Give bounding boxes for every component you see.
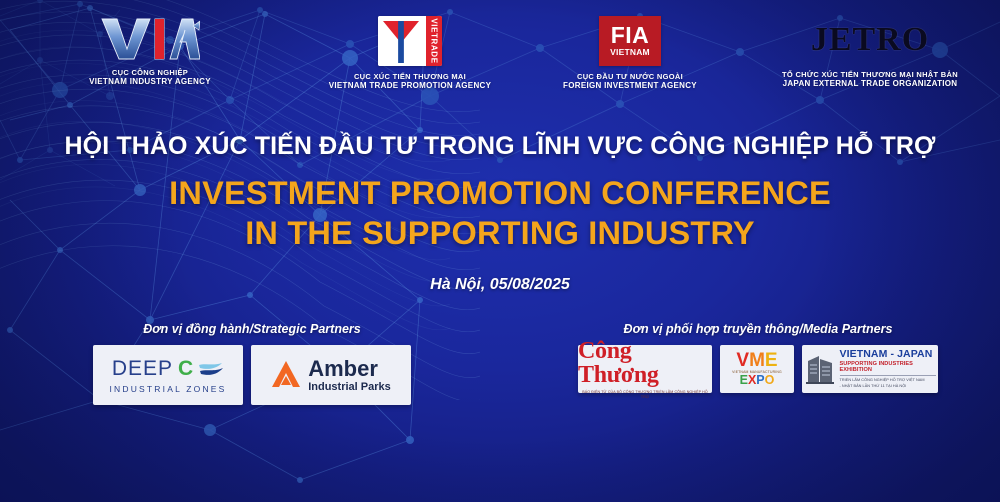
vietnam-japan-title: VIETNAM - JAPAN	[840, 349, 933, 360]
media-partners-group: Đơn vị phối hợp truyền thông/Media Partn…	[578, 322, 938, 393]
media-partners-label: Đơn vị phối hợp truyền thông/Media Partn…	[578, 322, 938, 336]
page-title-english-line2: IN THE SUPPORTING INDUSTRY	[0, 213, 1000, 253]
amber-triangle-icon	[271, 360, 301, 390]
jetro-caption-vi: TỔ CHỨC XÚC TIẾN THƯƠNG MẠI NHẬT BẢN	[782, 70, 958, 79]
vme-wordmark: V M E	[736, 352, 777, 369]
deepc-wordmark-row: DEEP C	[112, 357, 224, 381]
expo-letter-x: X	[748, 375, 756, 386]
conference-banner: CỤC CÔNG NGHIỆP VIETNAM INDUSTRY AGENCY …	[0, 0, 1000, 502]
organizer-logo-jetro: JETRO TỔ CHỨC XÚC TIẾN THƯƠNG MẠI NHẬT B…	[740, 16, 1000, 89]
deepc-subtitle: INDUSTRIAL ZONES	[109, 384, 226, 394]
amber-wordmark: Amber Industrial Parks	[308, 358, 391, 393]
vietnam-japan-wordmark: VIETNAM - JAPAN SUPPORTING INDUSTRIES EX…	[840, 349, 936, 389]
cong-thuong-subtitle: BÁO ĐIỆN TỬ CỦA BỘ CÔNG THƯƠNG TRIỂN LÃM…	[578, 390, 712, 400]
fia-caption: CỤC ĐẦU TƯ NƯỚC NGOÀI FOREIGN INVESTMENT…	[563, 72, 697, 91]
organizer-logo-via: CỤC CÔNG NGHIỆP VIETNAM INDUSTRY AGENCY	[0, 16, 300, 87]
strategic-partners-group: Đơn vị đồng hành/Strategic Partners DEEP…	[78, 322, 426, 405]
strategic-partners-label: Đơn vị đồng hành/Strategic Partners	[78, 322, 426, 336]
vietnam-japan-building-icon	[805, 352, 835, 386]
vietnam-japan-subtitle: SUPPORTING INDUSTRIES EXHIBITION	[840, 361, 936, 373]
vietrade-v-shape	[378, 16, 426, 66]
vietrade-wordmark: VIETRADE	[430, 18, 439, 63]
via-caption: CỤC CÔNG NGHIỆP VIETNAM INDUSTRY AGENCY	[89, 68, 211, 87]
partner-logo-deepc[interactable]: DEEP C INDUSTRIAL ZONES	[93, 345, 243, 405]
jetro-caption-en: JAPAN EXTERNAL TRADE ORGANIZATION	[782, 79, 958, 89]
headline-block: HỘI THẢO XÚC TIẾN ĐẦU TƯ TRONG LĨNH VỰC …	[0, 132, 1000, 294]
via-caption-en: VIETNAM INDUSTRY AGENCY	[89, 77, 211, 87]
vietnam-japan-divider	[840, 375, 936, 376]
vietrade-caption: CỤC XÚC TIẾN THƯƠNG MẠI VIETNAM TRADE PR…	[329, 72, 491, 91]
expo-letter-p: P	[756, 375, 764, 386]
jetro-logo-icon: JETRO	[811, 16, 929, 64]
organizer-logo-vietrade: VIETRADE CỤC XÚC TIẾN THƯƠNG MẠI VIETNAM…	[300, 16, 520, 91]
vme-letter-e: E	[765, 352, 778, 369]
page-title-english: INVESTMENT PROMOTION CONFERENCE IN THE S…	[0, 173, 1000, 254]
partner-logo-cong-thuong[interactable]: Công Thương BÁO ĐIỆN TỬ CỦA BỘ CÔNG THƯƠ…	[578, 345, 712, 393]
fia-logo-icon: FIA VIETNAM	[599, 16, 661, 66]
strategic-partners-row: DEEP C INDUSTRIAL ZONES	[78, 345, 426, 405]
venue-date: Hà Nội, 05/08/2025	[0, 276, 1000, 294]
fia-caption-vi: CỤC ĐẦU TƯ NƯỚC NGOÀI	[563, 72, 697, 81]
fia-caption-en: FOREIGN INVESTMENT AGENCY	[563, 81, 697, 91]
organizer-logo-row: CỤC CÔNG NGHIỆP VIETNAM INDUSTRY AGENCY …	[0, 16, 1000, 108]
jetro-wordmark: JETRO	[811, 21, 929, 59]
via-logo-icon	[100, 16, 200, 62]
partner-logo-vme-expo[interactable]: V M E VIETNAM MANUFACTURING E X P O	[720, 345, 794, 393]
expo-letter-e: E	[740, 375, 748, 386]
media-partners-row: Công Thương BÁO ĐIỆN TỬ CỦA BỘ CÔNG THƯƠ…	[578, 345, 938, 393]
via-caption-vi: CỤC CÔNG NGHIỆP	[89, 68, 211, 77]
vietrade-caption-en: VIETNAM TRADE PROMOTION AGENCY	[329, 81, 491, 91]
deepc-word-c: C	[178, 357, 193, 381]
vme-letter-v: V	[736, 352, 749, 369]
vietnam-japan-detail-line2: - NHẬT BẢN LẦN THỨ 11 TẠI HÀ NỘI	[840, 384, 907, 390]
deepc-word-deep: DEEP	[112, 357, 173, 381]
vietrade-sidebar: VIETRADE	[426, 16, 442, 66]
partner-logo-vietnam-japan[interactable]: VIETNAM - JAPAN SUPPORTING INDUSTRIES EX…	[802, 345, 938, 393]
partner-logo-amber[interactable]: Amber Industrial Parks	[251, 345, 411, 405]
vme-letter-m: M	[749, 352, 765, 369]
expo-wordmark: E X P O	[740, 375, 775, 386]
amber-subtitle: Industrial Parks	[308, 381, 391, 393]
fia-country: VIETNAM	[610, 47, 650, 57]
expo-letter-o: O	[765, 375, 775, 386]
amber-name: Amber	[308, 358, 378, 380]
organizer-logo-fia: FIA VIETNAM CỤC ĐẦU TƯ NƯỚC NGOÀI FOREIG…	[520, 16, 740, 91]
fia-wordmark: FIA	[611, 25, 650, 47]
vietrade-logo-icon: VIETRADE	[378, 16, 442, 66]
jetro-caption: TỔ CHỨC XÚC TIẾN THƯƠNG MẠI NHẬT BẢN JAP…	[782, 70, 958, 89]
cong-thuong-name: Công Thương	[578, 339, 712, 387]
partners-section: Đơn vị đồng hành/Strategic Partners DEEP…	[0, 322, 1000, 422]
vietrade-caption-vi: CỤC XÚC TIẾN THƯƠNG MẠI	[329, 72, 491, 81]
page-title-english-line1: INVESTMENT PROMOTION CONFERENCE	[0, 173, 1000, 213]
page-title-vietnamese: HỘI THẢO XÚC TIẾN ĐẦU TƯ TRONG LĨNH VỰC …	[0, 132, 1000, 161]
deepc-swoosh-icon	[198, 361, 224, 377]
